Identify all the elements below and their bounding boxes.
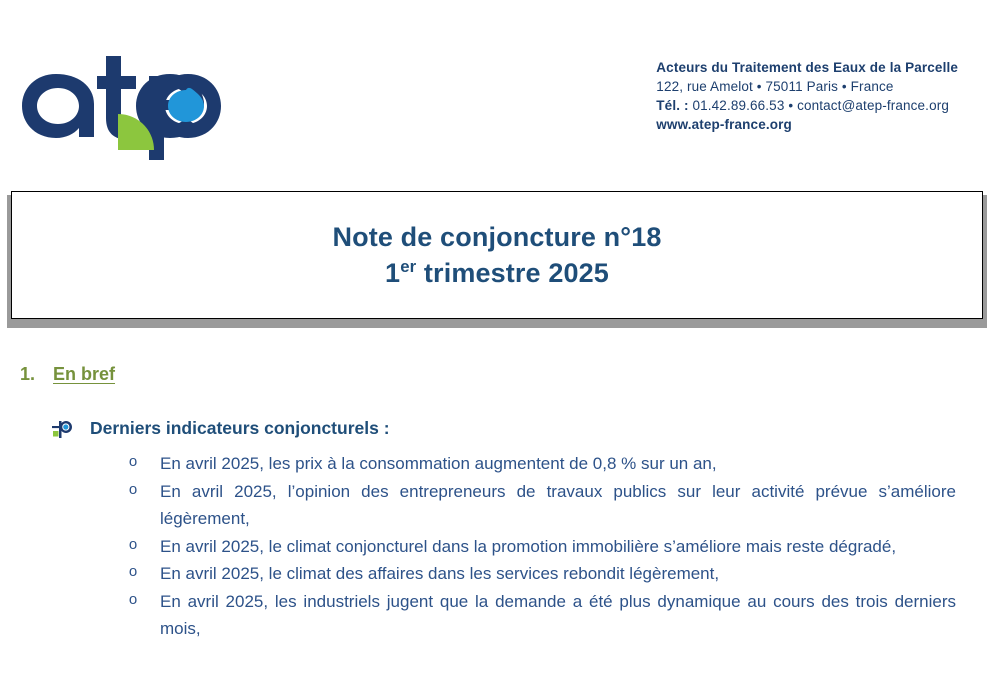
section-title: En bref (53, 364, 115, 384)
company-address: 122, rue Amelot • 75011 Paris • France (656, 77, 958, 96)
document-title-line1: Note de conjoncture n°18 (332, 219, 661, 255)
subsection-derniers-indicateurs: Derniers indicateurs conjoncturels : (0, 418, 1000, 439)
indicator-list: o En avril 2025, les prix à la consommat… (0, 450, 1000, 643)
list-marker: o (124, 560, 142, 584)
company-phone-email: Tél. : 01.42.89.66.53 • contact@atep-fra… (656, 96, 958, 115)
document-title-line2: 1er trimestre 2025 (385, 255, 609, 291)
quarter-label: trimestre 2025 (416, 258, 609, 288)
list-item-text: En avril 2025, le climat conjoncturel da… (160, 537, 896, 556)
subsection-heading: Derniers indicateurs conjoncturels : (0, 418, 1000, 439)
company-name: Acteurs du Traitement des Eaux de la Par… (656, 58, 958, 77)
list-item-text: En avril 2025, l’opinion des entrepreneu… (160, 482, 956, 529)
section-heading: 1.En bref (20, 364, 115, 385)
quarter-ordinal-suffix: er (400, 257, 416, 276)
title-box-frame: Note de conjoncture n°18 1er trimestre 2… (11, 191, 983, 319)
list-item-text: En avril 2025, les industriels jugent qu… (160, 592, 956, 639)
section-number: 1. (20, 364, 53, 385)
list-item-text: En avril 2025, les prix à la consommatio… (160, 454, 717, 473)
title-box: Note de conjoncture n°18 1er trimestre 2… (7, 191, 987, 324)
quarter-number: 1 (385, 258, 400, 288)
list-marker: o (124, 533, 142, 557)
page-header: Acteurs du Traitement des Eaux de la Par… (0, 0, 1000, 180)
list-marker: o (124, 478, 142, 502)
list-item: o En avril 2025, le climat des affaires … (124, 560, 956, 588)
contact-block: Acteurs du Traitement des Eaux de la Par… (656, 58, 958, 135)
list-item: o En avril 2025, les industriels jugent … (124, 588, 956, 643)
phone-email-value: 01.42.89.66.53 • contact@atep-france.org (689, 98, 949, 113)
list-marker: o (124, 450, 142, 474)
atep-logo (18, 42, 228, 162)
list-marker: o (124, 588, 142, 612)
list-item-text: En avril 2025, le climat des affaires da… (160, 564, 719, 583)
list-item: o En avril 2025, les prix à la consommat… (124, 450, 956, 478)
phone-label: Tél. : (656, 98, 688, 113)
company-website[interactable]: www.atep-france.org (656, 115, 958, 134)
list-item: o En avril 2025, l’opinion des entrepren… (124, 478, 956, 533)
list-item: o En avril 2025, le climat conjoncturel … (124, 533, 956, 561)
